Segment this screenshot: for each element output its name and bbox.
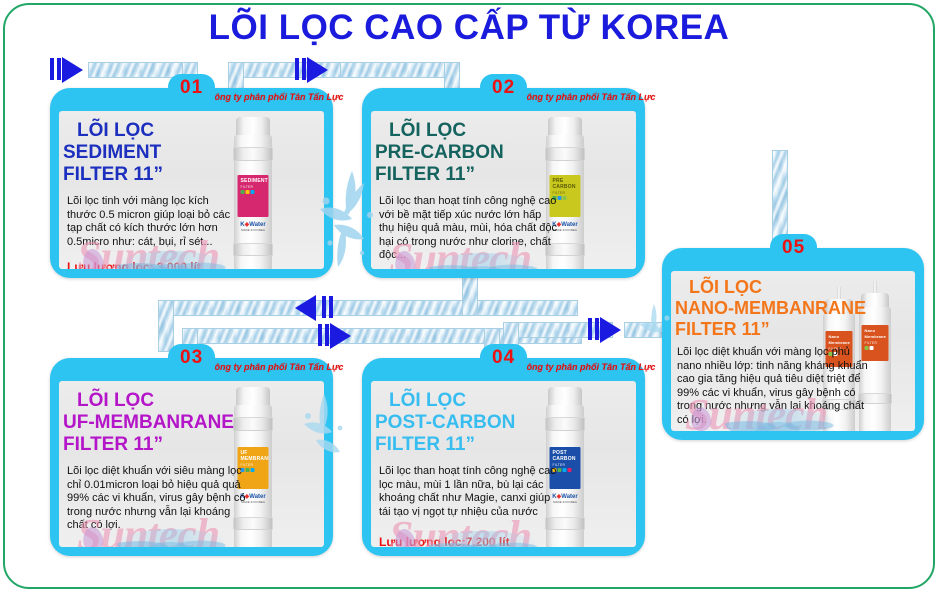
arrow-01-to-02 (307, 57, 328, 83)
pipe-02-to-right (340, 62, 460, 78)
card-01-header: 01 Công ty phân phối Tân Tấn Lực (50, 88, 333, 112)
card-01-title: LÕI LỌC SEDIMENT FILTER 11” (59, 120, 324, 186)
cartridge-01-brand: K◆WaterMADE IN KOREA (240, 221, 265, 232)
card-01-badge: 01 (168, 74, 215, 103)
card-05-badge: 05 (770, 234, 817, 263)
card-02-header: 02 Công ty phân phối Tân Tấn Lực (362, 88, 645, 112)
card-04-panel: POST CARBON FILTER K◆WaterMADE IN KOREA … (371, 381, 636, 547)
card-05-body: Lõi lọc diệt khuẩn với màng lọc phủ nano… (677, 346, 875, 428)
card-01-panel: SEDIMENT FILTER K◆WaterMADE IN KOREA LÕI… (59, 111, 324, 269)
card-02-badge: 02 (480, 74, 527, 103)
card-02-panel: PRE CARBON FILTER K◆WaterMADE IN KOREA L… (371, 111, 636, 269)
card-01-spec-flow: Lưu lượng lọc: 3.000 lít (67, 260, 324, 269)
card-02-company-label: Công ty phân phối Tân Tấn Lực (520, 92, 655, 102)
card-02-title: LÕI LỌC PRE-CARBON FILTER 11” (371, 120, 636, 186)
card-04-title: LÕI LỌC POST-CARBON FILTER 11” (371, 390, 636, 456)
card-03-title: LÕI LỌC UF-MEMBANRANE FILTER 11” (59, 390, 324, 456)
card-post-carbon-filter[interactable]: 04 Công ty phân phối Tân Tấn Lực POST CA… (362, 358, 645, 556)
card-05-panel: Nano Membrane FILTER Nano Membrane FILTE… (671, 271, 915, 431)
page-title: LÕI LỌC CAO CẤP TỪ KOREA (0, 8, 938, 48)
card-03-panel: UF MEMBRANE FILTER K◆WaterMADE IN KOREA … (59, 381, 324, 547)
card-04-company-label: Công ty phân phối Tân Tấn Lực (520, 362, 655, 372)
arrow-tail-entry (50, 58, 61, 80)
card-01-company-label: Công ty phân phối Tân Tấn Lực (208, 92, 343, 102)
card-04-badge: 04 (480, 344, 527, 373)
arrow-03-to-04 (330, 323, 351, 349)
card-uf-membrane-filter[interactable]: 03 Công ty phân phối Tân Tấn Lực UF MEMB… (50, 358, 333, 556)
infographic-root: LÕI LỌC CAO CẤP TỪ KOREA 01 Công ty phân… (0, 0, 938, 592)
pipe-02-to-03 (158, 300, 578, 316)
card-04-body: Lõi lọc than hoạt tính công nghệ cao lọc… (379, 465, 563, 519)
pipe-03-riser (158, 300, 174, 352)
arrow-tail-04-05 (588, 318, 599, 340)
card-03-badge: 03 (168, 344, 215, 373)
arrow-tail-01-02 (295, 58, 306, 80)
card-05-title: LÕI LỌC NANO-MEMBANRANE FILTER 11” (671, 277, 915, 340)
arrow-02-to-03 (295, 295, 316, 321)
card-04-header: 04 Công ty phân phối Tân Tấn Lực (362, 358, 645, 382)
card-sediment-filter[interactable]: 01 Công ty phân phối Tân Tấn Lực SEDIMEN… (50, 88, 333, 278)
card-nano-membrane-filter[interactable]: 05 Nano Membrane FILTER (662, 248, 924, 440)
pipe-05-stub (772, 150, 788, 242)
card-01-body: Lõi lọc tinh với màng lọc kích thước 0.5… (67, 195, 239, 249)
card-02-body: Lõi lọc than hoạt tính công nghệ cao với… (379, 195, 557, 263)
arrow-04-to-05 (600, 317, 621, 343)
card-pre-carbon-filter[interactable]: 02 Công ty phân phối Tân Tấn Lực PRE CAR… (362, 88, 645, 278)
arrow-tail-02-03 (322, 296, 333, 318)
card-03-body: Lõi lọc diệt khuẩn với siêu màng lọc chỉ… (67, 465, 253, 533)
card-04-spec-flow: Lưu lượng lọc:7.200 lít (379, 535, 636, 547)
arrow-tail-03-04 (318, 324, 329, 346)
card-05-header: 05 (662, 248, 924, 272)
card-03-header: 03 Công ty phân phối Tân Tấn Lực (50, 358, 333, 382)
arrow-entry-to-01 (62, 57, 83, 83)
card-03-company-label: Công ty phân phối Tân Tấn Lực (208, 362, 343, 372)
